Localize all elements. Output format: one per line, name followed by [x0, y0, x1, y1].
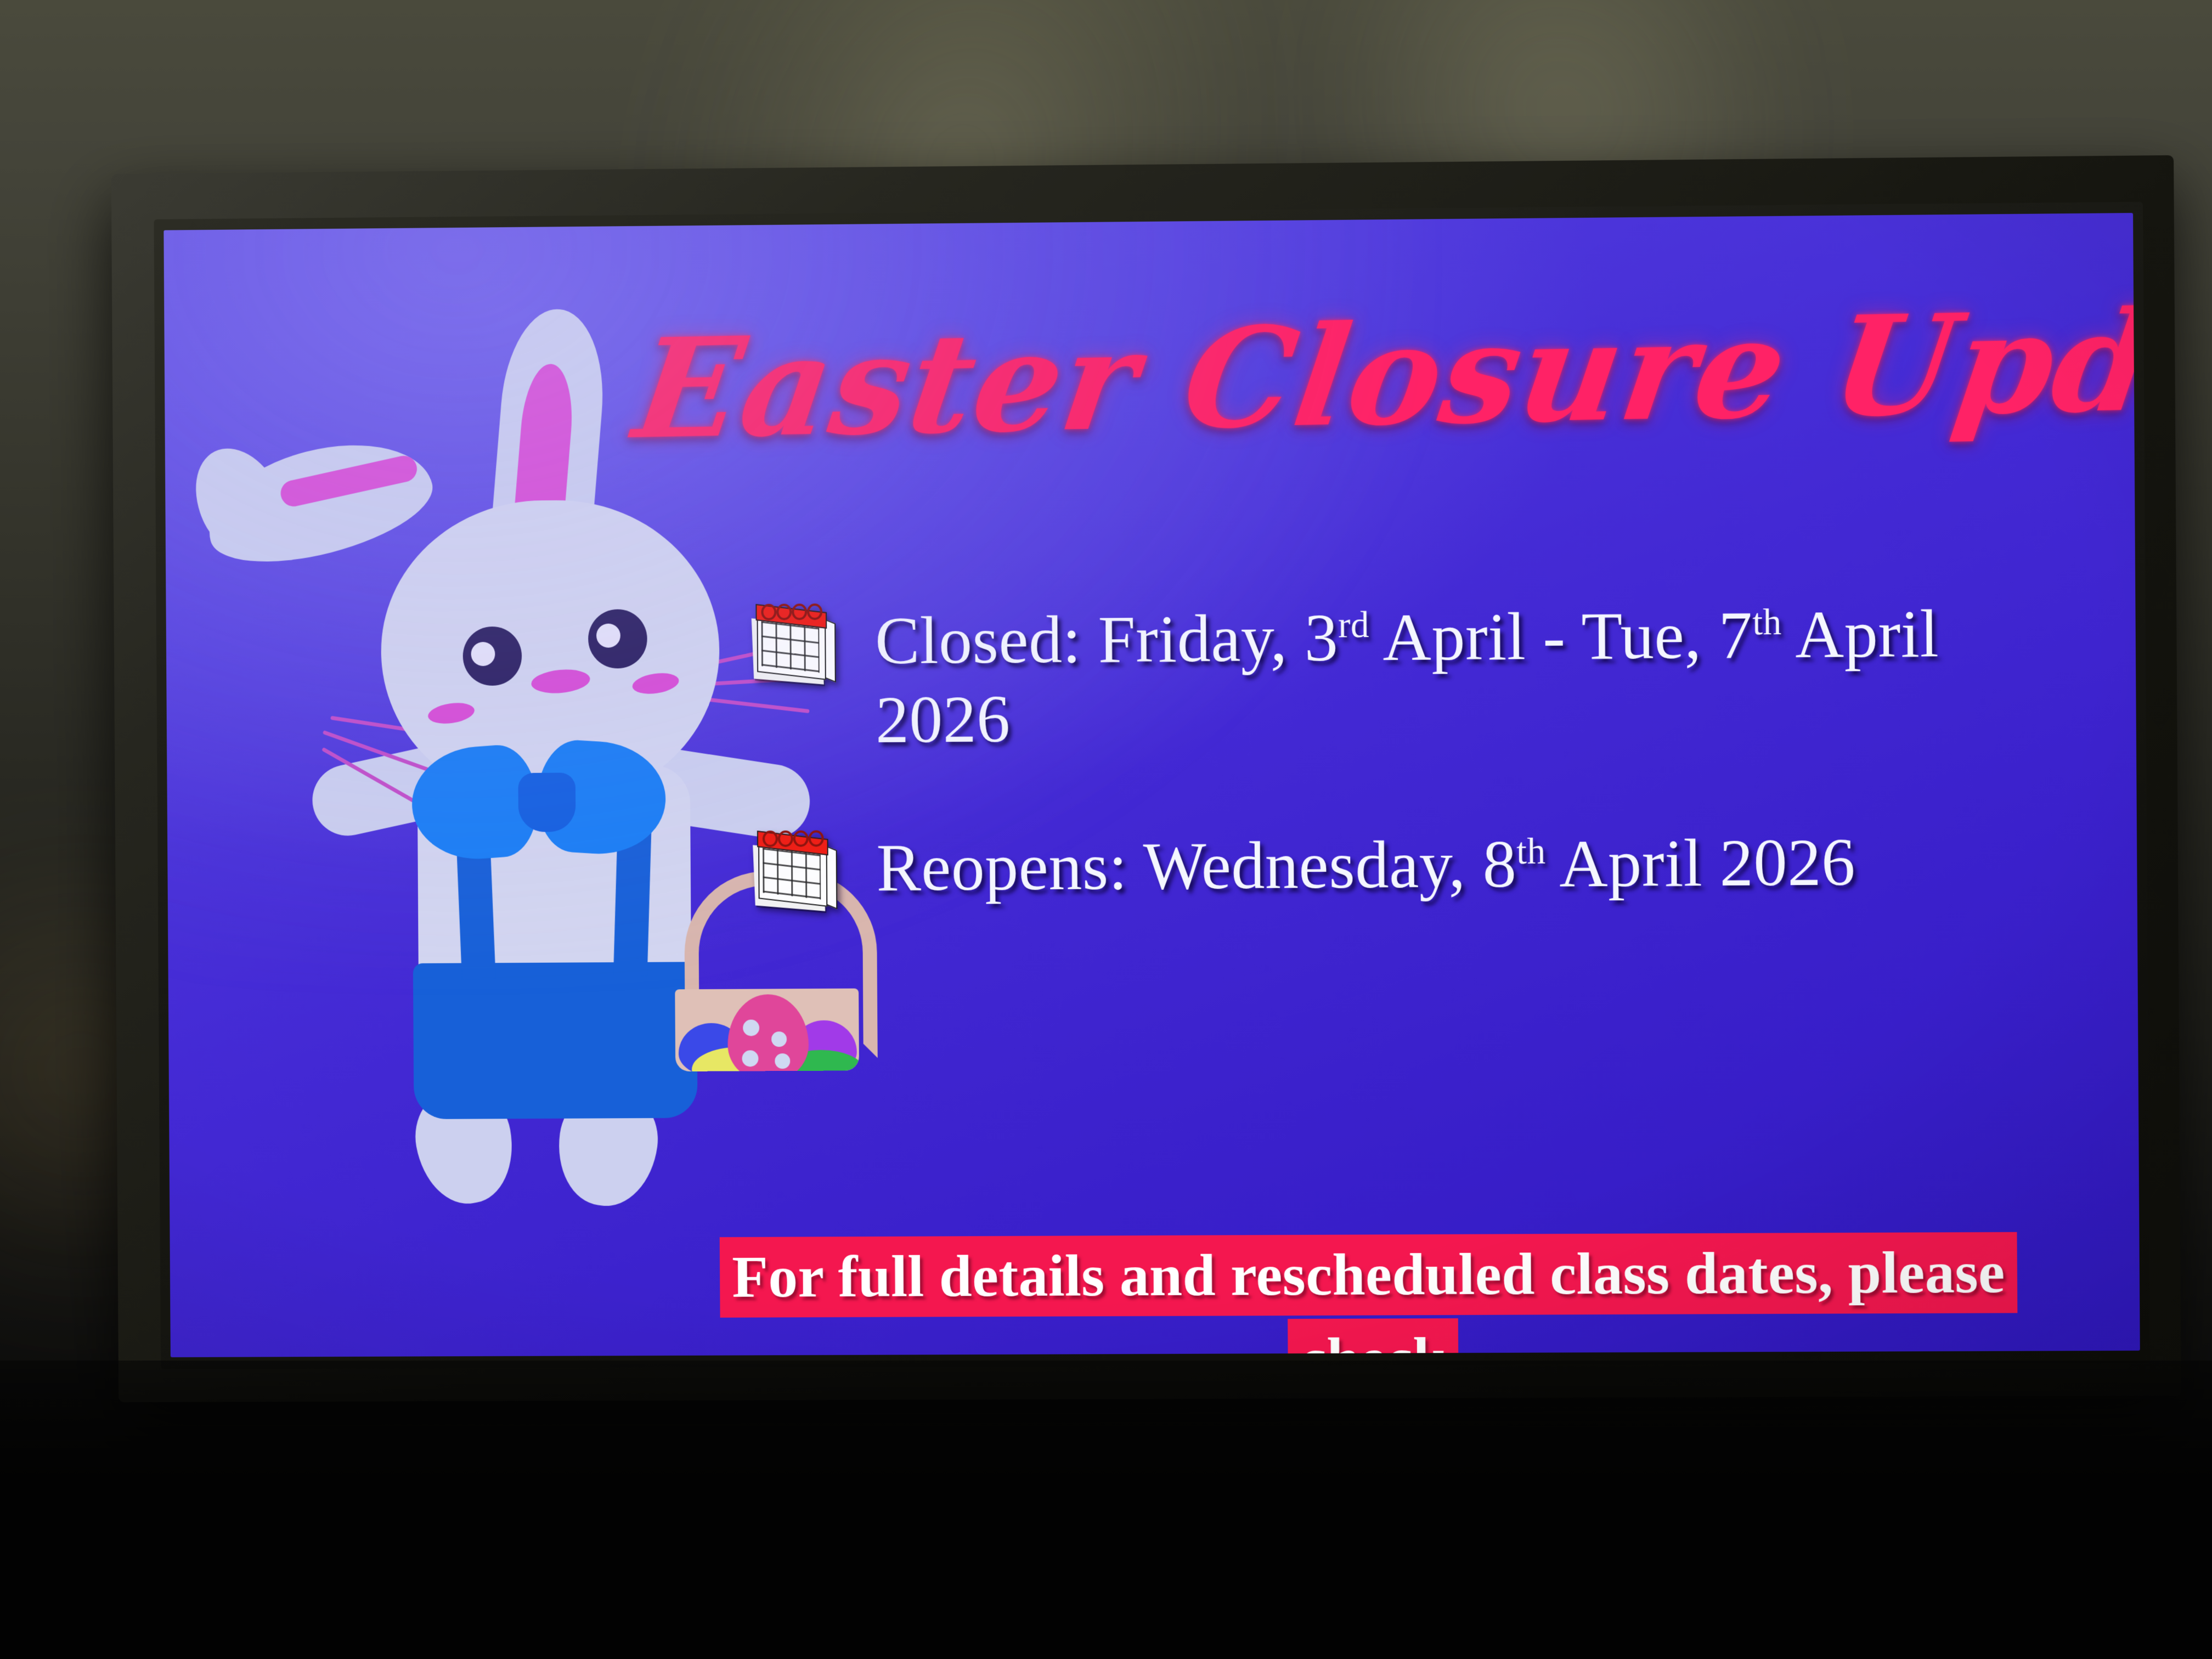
bunny-ear-floppy	[195, 423, 442, 581]
photo-scene: Easter Closure Update	[0, 0, 2212, 1659]
highlight-banner: For full details and rescheduled class d…	[649, 1230, 2102, 1357]
presentation-slide: Easter Closure Update	[163, 213, 2140, 1357]
egg-dot	[775, 1053, 790, 1069]
egg-dot	[771, 1031, 787, 1047]
bullet-text-reopens: Reopens: Wednesday, 8th April 2026	[876, 823, 1855, 907]
slide-bullet-list: Closed: Friday, 3rd April - Tue, 7th Apr…	[749, 594, 2082, 983]
basket-body	[675, 989, 859, 1071]
wall-mounted-tv: Easter Closure Update	[111, 155, 2181, 1402]
bunny-eye-highlight-left	[471, 642, 495, 666]
bunny-eye-highlight-right	[596, 624, 620, 648]
easter-egg-pink-polka-dot	[727, 994, 809, 1071]
wall-shadow-bottom	[0, 1361, 2212, 1659]
calendar-icon	[749, 607, 831, 687]
reopens-ordinal-suffix: th	[1516, 831, 1546, 872]
closed-text-a: Closed: Friday, 3	[875, 601, 1339, 678]
closed-text-b: April - Tue, 7	[1369, 598, 1753, 675]
closed-ordinal-suffix-1: rd	[1338, 604, 1369, 645]
bullet-item-closed: Closed: Friday, 3rd April - Tue, 7th Apr…	[749, 594, 2081, 760]
slide-title: Easter Closure Update	[628, 295, 1979, 457]
reopens-text-a: Reopens: Wednesday, 8	[876, 827, 1517, 905]
banner-line-1: For full details and rescheduled class d…	[720, 1232, 2017, 1357]
calendar-icon	[751, 833, 833, 913]
bullet-text-closed: Closed: Friday, 3rd April - Tue, 7th Apr…	[875, 594, 2081, 760]
bullet-item-reopens: Reopens: Wednesday, 8th April 2026	[751, 822, 2082, 913]
egg-dot	[743, 1019, 759, 1036]
closed-ordinal-suffix-2: th	[1752, 601, 1782, 643]
reopens-text-b: April 2026	[1545, 825, 1855, 901]
bunny-overalls-shorts	[413, 962, 698, 1119]
egg-dot	[742, 1050, 758, 1066]
tv-screen: Easter Closure Update	[163, 213, 2140, 1357]
bunny-bowtie-knot	[518, 772, 575, 832]
